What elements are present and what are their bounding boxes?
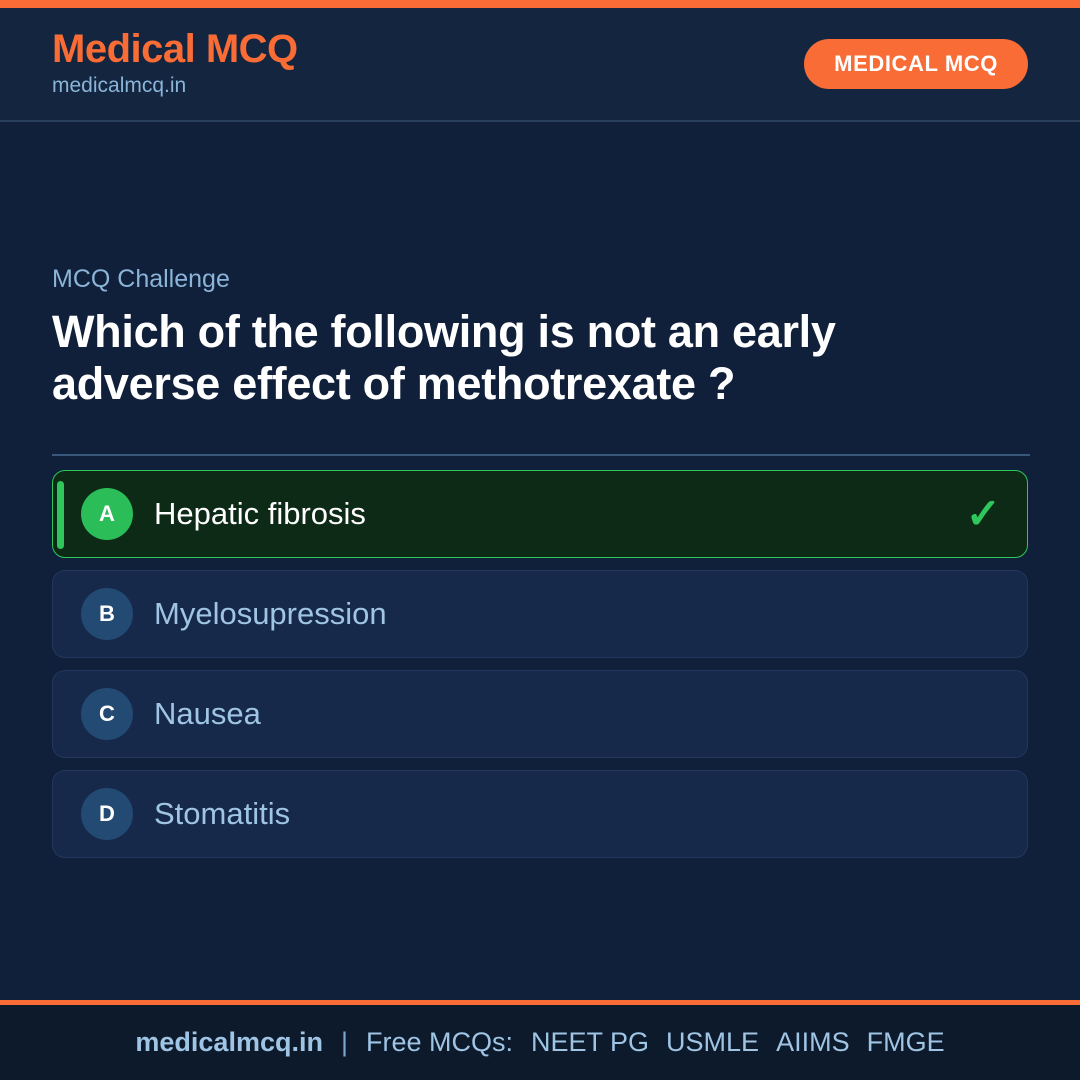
footer-free-label: Free MCQs: <box>366 1029 513 1056</box>
option-a-letter: A <box>81 488 133 540</box>
option-d[interactable]: D Stomatitis ✓ <box>52 770 1028 858</box>
option-c-letter: C <box>81 688 133 740</box>
footer-exam-aiims: AIIMS <box>776 1029 850 1056</box>
option-c-label: Nausea <box>154 697 261 731</box>
option-b-letter: B <box>81 588 133 640</box>
footer-site: medicalmcq.in <box>135 1029 323 1056</box>
options-list: A Hepatic fibrosis ✓ B Myelosupression ✓… <box>52 470 1028 858</box>
option-a-label: Hepatic fibrosis <box>154 497 366 531</box>
kicker-label: MCQ Challenge <box>52 264 1028 294</box>
option-d-label: Stomatitis <box>154 797 290 831</box>
footer-exam-list: NEET PG USMLE AIIMS FMGE <box>531 1029 945 1056</box>
option-d-letter: D <box>81 788 133 840</box>
main-content: MCQ Challenge Which of the following is … <box>0 122 1080 1000</box>
brand-badge: MEDICAL MCQ <box>804 39 1028 89</box>
footer-exam-neet-pg: NEET PG <box>531 1029 649 1056</box>
brand-title: Medical MCQ <box>52 28 298 70</box>
footer-separator: | <box>341 1029 348 1056</box>
footer: medicalmcq.in | Free MCQs: NEET PG USMLE… <box>0 1005 1080 1080</box>
option-b[interactable]: B Myelosupression ✓ <box>52 570 1028 658</box>
header: Medical MCQ medicalmcq.in MEDICAL MCQ <box>0 8 1080 122</box>
option-a[interactable]: A Hepatic fibrosis ✓ <box>52 470 1028 558</box>
check-icon: ✓ <box>966 493 1001 535</box>
footer-text: medicalmcq.in | Free MCQs: NEET PG USMLE… <box>135 1029 944 1056</box>
question-text: Which of the following is not an early a… <box>52 306 992 410</box>
mcq-card: Medical MCQ medicalmcq.in MEDICAL MCQ MC… <box>0 0 1080 1080</box>
brand-subtitle: medicalmcq.in <box>52 72 298 100</box>
footer-exam-fmge: FMGE <box>867 1029 945 1056</box>
option-c[interactable]: C Nausea ✓ <box>52 670 1028 758</box>
footer-exam-usmle: USMLE <box>666 1029 759 1056</box>
brand-block: Medical MCQ medicalmcq.in <box>52 28 298 100</box>
option-b-label: Myelosupression <box>154 597 387 631</box>
top-accent-bar <box>0 0 1080 8</box>
correct-accent-bar <box>57 481 64 549</box>
divider <box>52 454 1030 456</box>
